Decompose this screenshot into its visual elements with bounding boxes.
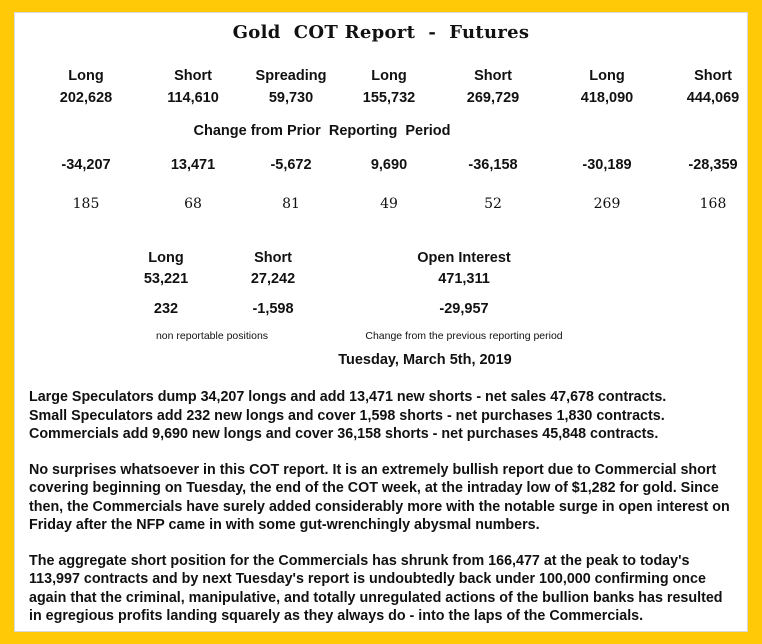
position-cell-3: 59,730	[239, 89, 343, 107]
change-cell-3: -5,672	[239, 156, 343, 174]
change-cell-4: 9,690	[343, 156, 435, 174]
traders-cell-2: 68	[147, 195, 239, 213]
nonreportable-header-row: Long Short Open Interest	[15, 249, 747, 267]
traders-cell-4: 49	[343, 195, 435, 213]
change-cell-2: 13,471	[147, 156, 239, 174]
position-cell-7: 444,069	[663, 89, 748, 107]
summary-line-commercials: Commercials add 9,690 new longs and cove…	[29, 425, 735, 444]
summary-line-large-specs: Large Speculators dump 34,207 longs and …	[29, 388, 735, 407]
position-cell-6: 418,090	[551, 89, 663, 107]
nr-change-long: 232	[105, 300, 227, 318]
header-cell-comm-long: Long	[551, 67, 663, 85]
summary-line-small-specs: Small Speculators add 232 new longs and …	[29, 407, 735, 426]
change-cell-5: -36,158	[435, 156, 551, 174]
nr-value-short: 27,242	[227, 270, 319, 288]
commentary-summary: Large Speculators dump 34,207 longs and …	[29, 388, 735, 444]
table-row: 202,628 114,610 59,730 155,732 269,729 4…	[15, 89, 747, 107]
traders-cell-1: 185	[25, 195, 147, 213]
header-cell-lg-short: Short	[147, 67, 239, 85]
traders-cell-3: 81	[239, 195, 343, 213]
nr-change-short: -1,598	[227, 300, 319, 318]
report-sheet: Gold COT Report - Futures Long Short Spr…	[14, 12, 748, 632]
open-interest-change: -29,957	[319, 300, 609, 318]
nonreportable-changes-row: 232 -1,598 -29,957	[15, 300, 747, 318]
report-frame: Gold COT Report - Futures Long Short Spr…	[0, 0, 762, 644]
change-cell-6: -30,189	[551, 156, 663, 174]
header-cell-sm-long: Long	[343, 67, 435, 85]
nonreportable-captions-row: non reportable positions Change from the…	[15, 329, 747, 343]
traders-cell-7: 168	[663, 195, 748, 213]
header-cell-sm-short: Short	[435, 67, 551, 85]
open-interest-value: 471,311	[319, 270, 609, 288]
nr-value-long: 53,221	[105, 270, 227, 288]
traders-cell-6: 269	[551, 195, 663, 213]
position-cell-1: 202,628	[25, 89, 147, 107]
header-cell-lg-long: Long	[25, 67, 147, 85]
commentary-section: Large Speculators dump 34,207 longs and …	[15, 388, 747, 626]
header-cell-nr-long: Long	[105, 249, 227, 267]
traders-cell-5: 52	[435, 195, 551, 213]
page-title: Gold COT Report - Futures	[15, 22, 747, 43]
nonreportable-values-row: 53,221 27,242 471,311	[15, 270, 747, 288]
position-cell-4: 155,732	[343, 89, 435, 107]
table-row: -34,207 13,471 -5,672 9,690 -36,158 -30,…	[15, 156, 747, 174]
header-cell-open-interest: Open Interest	[319, 249, 609, 267]
position-cell-2: 114,610	[147, 89, 239, 107]
table-row: 185 68 81 49 52 269 168	[15, 195, 747, 213]
change-cell-1: -34,207	[25, 156, 147, 174]
change-banner-label: Change from Prior Reporting Period	[15, 123, 747, 139]
change-cell-7: -28,359	[663, 156, 748, 174]
commentary-paragraph-aggregate: The aggregate short position for the Com…	[29, 552, 735, 626]
position-cell-5: 269,729	[435, 89, 551, 107]
table-header-row: Long Short Spreading Long Short Long Sho…	[15, 67, 747, 85]
header-cell-nr-short: Short	[227, 249, 319, 267]
header-cell-comm-short: Short	[663, 67, 748, 85]
header-cell-spreading: Spreading	[239, 67, 343, 85]
caption-change-previous-period: Change from the previous reporting perio…	[319, 329, 609, 343]
caption-non-reportable: non reportable positions	[105, 329, 319, 343]
report-date: Tuesday, March 5th, 2019	[15, 352, 747, 368]
commentary-paragraph-analysis: No surprises whatsoever in this COT repo…	[29, 461, 735, 535]
